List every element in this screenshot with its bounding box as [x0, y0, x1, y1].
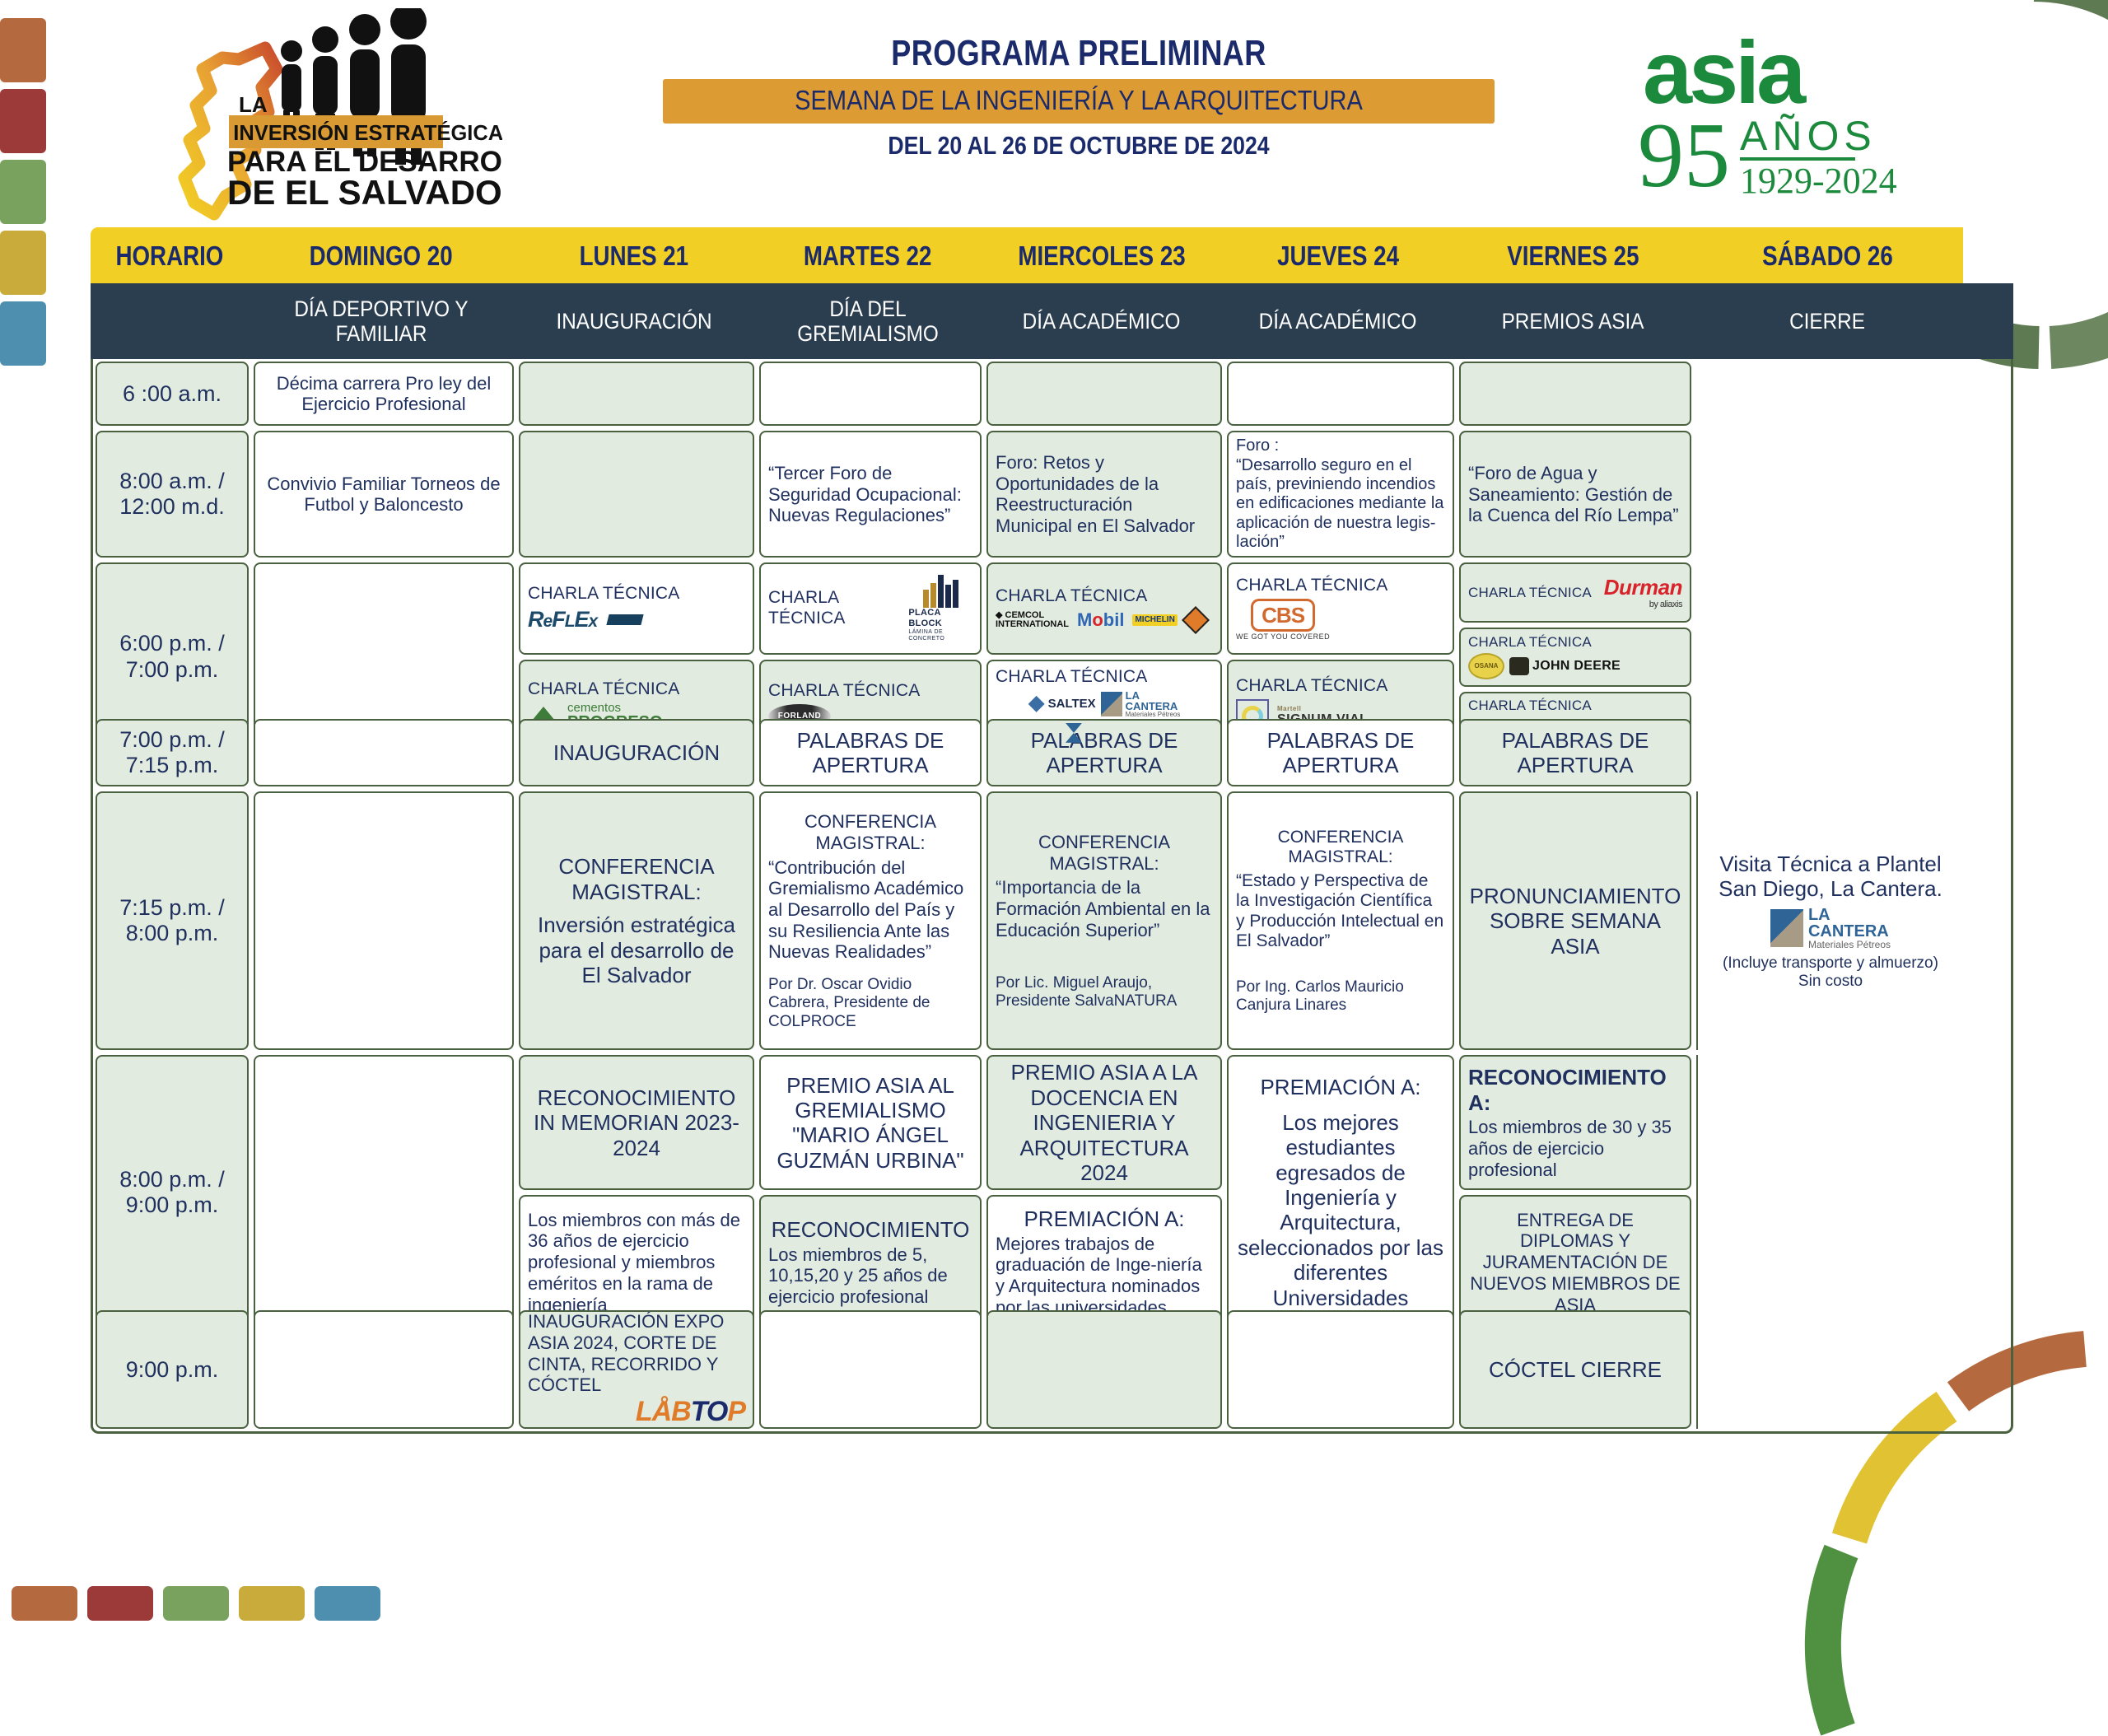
time-label: 7:00 p.m. / 7:15 p.m. — [96, 719, 249, 786]
cell-miercoles-2000: PREMIO ASIA A LA DOCENCIA EN INGENIERIA … — [984, 1052, 1224, 1332]
title-block: PROGRAMA PRELIMINAR SEMANA DE LA INGENIE… — [626, 33, 1532, 161]
miercoles-premiacion: PREMIACIÓN A: Mejores trabajos de gradua… — [986, 1195, 1222, 1330]
day-header-lunes: LUNES 21 — [514, 227, 754, 283]
miercoles-premiacion-body: Mejores trabajos de graduación de Inge-n… — [996, 1234, 1213, 1318]
logo-line4: DE EL SALVADOR — [227, 173, 502, 212]
cell-jueves-1915: CONFERENCIA MAGISTRAL: “Estado y Perspec… — [1227, 791, 1454, 1050]
martes-conf-head: CONFERENCIA MAGISTRAL: — [768, 811, 972, 853]
sabado-visita-note1: (Incluye transporte y almuerzo) — [1723, 954, 1938, 973]
lunes-reconocimiento: RECONOCIMIENTO IN MEMORIAN 2023-2024 — [519, 1055, 754, 1190]
day-header-miercoles: MIERCOLES 23 — [982, 227, 1222, 283]
theme-header-domingo: DÍA DEPORTIVO Y FAMILIAR — [249, 283, 514, 359]
charla-martes-a: CHARLA TÉCNICA PLACA BLOCKLÁMINA DE CONC… — [759, 562, 982, 654]
cell-lunes-2000: RECONOCIMIENTO IN MEMORIAN 2023-2024 Los… — [516, 1052, 757, 1332]
cell-domingo-2000 — [254, 1055, 514, 1329]
viernes-reconocimiento-head: RECONOCIMIENTO A: — [1468, 1065, 1682, 1115]
subtitle-band: SEMANA DE LA INGENIERÍA Y LA ARQUITECTUR… — [663, 79, 1495, 124]
sabado-visita-title: Visita Técnica a Plantel San Diego, La C… — [1705, 852, 1956, 902]
viernes-reconocimiento-body: Los miembros de 30 y 35 años de ejercici… — [1468, 1117, 1682, 1180]
cell-domingo-1915 — [254, 791, 514, 1050]
cell-martes-0600 — [759, 362, 982, 426]
martes-reconocimiento-head: RECONOCIMIENTO — [772, 1217, 970, 1242]
cell-lunes-1915: CONFERENCIA MAGISTRAL: Inversión estraté… — [519, 791, 754, 1050]
martes-conf-body: “Contribución del Gremialismo Académico … — [768, 857, 972, 964]
schedule-table: HORARIO DOMINGO 20 LUNES 21 MARTES 22 MI… — [91, 227, 2013, 1434]
lunes-conf-body: Inversión estratégica para el desarrollo… — [528, 912, 745, 987]
cell-viernes-2100: CÓCTEL CIERRE — [1459, 1310, 1691, 1429]
miercoles-conf-body: “Importancia de la Formación Ambiental e… — [996, 877, 1213, 940]
cell-jueves-2000: PREMIACIÓN A: Los mejores estudiantes eg… — [1227, 1055, 1454, 1329]
cell-sabado-1900 — [1696, 719, 1963, 786]
chip-blue-bottom — [315, 1586, 380, 1621]
martes-premio-gremialismo: PREMIO ASIA AL GREMIALISMO "MARIO ÁNGEL … — [759, 1055, 982, 1190]
cell-jueves-0800-body: “Desarrollo seguro en el país, previnien… — [1236, 456, 1445, 553]
sponsor-logo-placa-block: PLACA BLOCKLÁMINA DE CONCRETO — [908, 575, 972, 642]
cell-jueves-0800-pre: Foro : — [1236, 436, 1279, 455]
cell-martes-1900: PALABRAS DE APERTURA — [759, 719, 982, 786]
cell-sabado-2000 — [1696, 1055, 1963, 1329]
day-header-sabado: SÁBADO 26 — [1691, 227, 1963, 283]
lunes-reconocimiento-detalle: Los miembros con más de 36 años de ejerc… — [519, 1195, 754, 1330]
jueves-conf-by: Por Ing. Carlos Mauricio Canjura Linares — [1236, 978, 1445, 1015]
sponsor-logo-durman: Durmanby aliaxis — [1604, 575, 1682, 610]
lunes-expo-text: INAUGURACIÓN EXPO ASIA 2024, CORTE DE CI… — [528, 1311, 745, 1396]
theme-header-miercoles: DÍA ACADÉMICO — [982, 283, 1222, 359]
cell-jueves-0600 — [1227, 362, 1454, 426]
cell-miercoles-2100 — [986, 1310, 1222, 1429]
cell-sabado-2100 — [1696, 1310, 1963, 1429]
asia-year-range: 1929-2024 — [1740, 161, 1897, 201]
cell-domingo-1900 — [254, 719, 514, 786]
cell-sabado-0600 — [1696, 362, 1963, 426]
chip-green-bottom — [163, 1586, 229, 1621]
theme-header-sabado: CIERRE — [1691, 283, 1963, 359]
table-row: 8:00 p.m. / 9:00 p.m. RECONOCIMIENTO IN … — [93, 1052, 2011, 1308]
event-dates: DEL 20 AL 26 DE OCTUBRE DE 2024 — [689, 131, 1468, 161]
day-header-domingo: DOMINGO 20 — [249, 227, 514, 283]
cell-domingo-0800: Convivio Familiar Torneos de Futbol y Ba… — [254, 431, 514, 558]
chip-gold-bottom — [239, 1586, 305, 1621]
sponsor-logo-osana: OSANA — [1468, 653, 1504, 679]
martes-conf-by: Por Dr. Oscar Ovidio Cabrera, Presidente… — [768, 976, 972, 1031]
lunes-conf-head: CONFERENCIA MAGISTRAL: — [528, 854, 745, 904]
charla-miercoles-a: CHARLA TÉCNICA ◆ CEMCOLINTERNATIONAL Mob… — [986, 562, 1222, 654]
chip-gold — [0, 231, 46, 295]
theme-header-jueves: DÍA ACADÉMICO — [1222, 283, 1454, 359]
cell-domingo-2100 — [254, 1310, 514, 1429]
day-header-martes: MARTES 22 — [754, 227, 982, 283]
asia-anos-label: AÑOS — [1740, 113, 1877, 159]
page-header: LA INVERSIÓN ESTRATÉGICA PARA EL DESARRO… — [0, 0, 2108, 224]
logo-line1: LA — [239, 92, 268, 117]
cell-jueves-0800: Foro : “Desarrollo seguro en el país, pr… — [1227, 431, 1454, 558]
jueves-conf-head: CONFERENCIA MAGISTRAL: — [1236, 828, 1445, 868]
table-row: 6 :00 a.m. Décima carrera Pro ley del Ej… — [93, 359, 2011, 428]
cell-lunes-2100: INAUGURACIÓN EXPO ASIA 2024, CORTE DE CI… — [519, 1310, 754, 1429]
sponsor-logo-michelin: MICHELIN — [1132, 614, 1177, 626]
jueves-premiacion-head: PREMIACIÓN A: — [1260, 1075, 1420, 1099]
table-row: 9:00 p.m. INAUGURACIÓN EXPO ASIA 2024, C… — [93, 1308, 2011, 1431]
cell-martes-2000: PREMIO ASIA AL GREMIALISMO "MARIO ÁNGEL … — [757, 1052, 984, 1332]
sponsor-logo-diamond — [1182, 606, 1210, 634]
page-title: PROGRAMA PRELIMINAR — [707, 33, 1450, 74]
cell-miercoles-1900: PALABRAS DE APERTURA — [986, 719, 1222, 786]
cell-lunes-0800 — [519, 431, 754, 558]
sponsor-logo-reflex: ReFLEx — [528, 607, 642, 633]
time-label: 9:00 p.m. — [96, 1310, 249, 1429]
chip-blue — [0, 301, 46, 366]
theme-header-blank — [91, 283, 249, 359]
sponsor-logos-viernes-b: OSANA JOHN DEERE — [1468, 653, 1621, 679]
cell-viernes-2000: RECONOCIMIENTO A: Los miembros de 30 y 3… — [1457, 1052, 1694, 1332]
charla-jueves-a: CHARLA TÉCNICA CBSWE GOT YOU COVERED — [1227, 562, 1454, 654]
sponsor-logo-la-cantera: LACANTERAMateriales Pétreos — [1101, 690, 1181, 718]
sponsor-logos-miercoles-a: ◆ CEMCOLINTERNATIONAL Mobil MICHELIN — [996, 609, 1206, 631]
charla-lunes-a: CHARLA TÉCNICA ReFLEx — [519, 562, 754, 654]
cell-viernes-1915: PRONUNCIAMIENTO SOBRE SEMANA ASIA — [1459, 791, 1691, 1050]
miercoles-premiacion-head: PREMIACIÓN A: — [1024, 1206, 1184, 1231]
page-subtitle: SEMANA DE LA INGENIERÍA Y LA ARQUITECTUR… — [713, 85, 1445, 116]
cell-viernes-0800: “Foro de Agua y Saneamiento: Gestión de … — [1459, 431, 1691, 558]
schedule-body: 6 :00 a.m. Décima carrera Pro ley del Ej… — [91, 359, 2013, 1434]
charla-viernes-a: CHARLA TÉCNICA Durmanby aliaxis — [1459, 562, 1691, 622]
bottom-color-chips — [12, 1586, 380, 1621]
table-row: 6:00 p.m. / 7:00 p.m. CHARLA TÉCNICA ReF… — [93, 560, 2011, 716]
logo-line2: INVERSIÓN ESTRATÉGICA — [233, 120, 502, 145]
table-row: 8:00 a.m. / 12:00 m.d. Convivio Familiar… — [93, 428, 2011, 560]
cell-lunes-1900: INAUGURACIÓN — [519, 719, 754, 786]
sponsor-logo-cbs: CBSWE GOT YOU COVERED — [1236, 599, 1330, 642]
sponsor-logo-cemcol: ◆ CEMCOLINTERNATIONAL — [996, 611, 1069, 629]
cell-jueves-1900: PALABRAS DE APERTURA — [1227, 719, 1454, 786]
miercoles-premio-docencia: PREMIO ASIA A LA DOCENCIA EN INGENIERIA … — [986, 1055, 1222, 1190]
cell-viernes-0600 — [1459, 362, 1691, 426]
sponsor-logo-mobil: Mobil — [1077, 609, 1124, 631]
theme-header-viernes: PREMIOS ASIA — [1454, 283, 1691, 359]
sponsor-logo-saltex: SALTEX — [1028, 696, 1096, 712]
cell-martes-2100 — [759, 1310, 982, 1429]
cell-sabado-0800 — [1696, 431, 1963, 558]
cell-lunes-0600 — [519, 362, 754, 426]
table-row: 7:00 p.m. / 7:15 p.m. INAUGURACIÓN PALAB… — [93, 716, 2011, 789]
theme-header-martes: DÍA DEL GREMIALISMO — [754, 283, 982, 359]
martes-reconocimiento: RECONOCIMIENTO Los miembros de 5, 10,15,… — [759, 1195, 982, 1330]
cell-viernes-1900: PALABRAS DE APERTURA — [1459, 719, 1691, 786]
jueves-premiacion-body: Los mejores estudiantes egresados de Ing… — [1236, 1110, 1445, 1310]
asia-95-logo: asia 95 AÑOS 1929-2024 — [1635, 25, 1980, 202]
day-header-horario: HORARIO — [91, 227, 249, 283]
time-label: 8:00 a.m. / 12:00 m.d. — [96, 431, 249, 558]
cell-martes-0800: “Tercer Foro de Seguridad Ocupacional: N… — [759, 431, 982, 558]
sponsor-logo-john-deere: JOHN DEERE — [1509, 657, 1621, 675]
cell-sabado-visita: Visita Técnica a Plantel San Diego, La C… — [1696, 791, 1963, 1050]
chip-terracotta-bottom — [12, 1586, 77, 1621]
charla-viernes-b: CHARLA TÉCNICA OSANA JOHN DEERE — [1459, 628, 1691, 687]
day-header-viernes: VIERNES 25 — [1454, 227, 1691, 283]
cell-miercoles-1915: CONFERENCIA MAGISTRAL: “Importancia de l… — [986, 791, 1222, 1050]
cell-martes-1915: CONFERENCIA MAGISTRAL: “Contribución del… — [759, 791, 982, 1050]
jueves-conf-body: “Estado y Perspectiva de la Investigació… — [1236, 871, 1445, 952]
cell-jueves-2100 — [1227, 1310, 1454, 1429]
cell-domingo-0600: Décima carrera Pro ley del Ejercicio Pro… — [254, 362, 514, 426]
sabado-visita-note2: Sin costo — [1798, 973, 1863, 991]
time-label: 6 :00 a.m. — [96, 362, 249, 426]
viernes-entrega-diplomas: ENTREGA DE DIPLOMAS Y JURAMENTACIÓN DE N… — [1459, 1195, 1691, 1330]
chip-maroon-bottom — [87, 1586, 153, 1621]
day-header-row: HORARIO DOMINGO 20 LUNES 21 MARTES 22 MI… — [91, 227, 2013, 283]
viernes-reconocimiento: RECONOCIMIENTO A: Los miembros de 30 y 3… — [1459, 1055, 1691, 1190]
day-header-jueves: JUEVES 24 — [1222, 227, 1454, 283]
theme-header-lunes: INAUGURACIÓN — [514, 283, 754, 359]
table-row: 7:15 p.m. / 8:00 p.m. CONFERENCIA MAGIST… — [93, 789, 2011, 1052]
martes-reconocimiento-body: Los miembros de 5, 10,15,20 y 25 años de… — [768, 1244, 972, 1308]
sponsor-logo-labtop: LÅBTOP — [636, 1396, 745, 1429]
cell-miercoles-0600 — [986, 362, 1222, 426]
theme-header-row: DÍA DEPORTIVO Y FAMILIAR INAUGURACIÓN DÍ… — [91, 283, 2013, 359]
sponsor-logo-la-cantera-sabado: LACANTERAMateriales Pétreos — [1770, 907, 1891, 950]
inversion-estrategica-logo: LA INVERSIÓN ESTRATÉGICA PARA EL DESARRO… — [124, 8, 502, 224]
cell-miercoles-0800: Foro: Retos y Oportunidades de la Reestr… — [986, 431, 1222, 558]
time-label: 8:00 p.m. / 9:00 p.m. — [96, 1055, 249, 1329]
miercoles-conf-by: Por Lic. Miguel Araujo, Presidente Salva… — [996, 974, 1213, 1010]
miercoles-conf-head: CONFERENCIA MAGISTRAL: — [996, 832, 1213, 874]
time-label: 7:15 p.m. / 8:00 p.m. — [96, 791, 249, 1050]
asia-years-number: 95 — [1638, 105, 1730, 202]
